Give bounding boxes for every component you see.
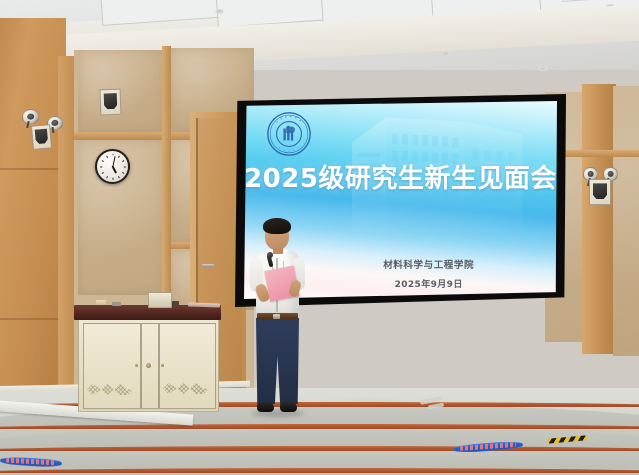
step-nosing: [0, 424, 639, 429]
clock-tick: [101, 172, 103, 174]
wall-mounted-device[interactable]: [589, 179, 611, 205]
clock-tick: [118, 155, 120, 157]
downlight-icon: [441, 51, 450, 56]
slide-subtitle: 材料科学与工程学院: [300, 257, 557, 271]
left-wood-wall: [0, 18, 66, 418]
slide-title: 2025级研究生新生见面会: [244, 158, 557, 195]
cabinet-knob[interactable]: [135, 364, 138, 367]
presenter-shoe-right: [280, 402, 297, 412]
lectern-cabinet[interactable]: [78, 318, 219, 412]
right-wood-column: [582, 84, 616, 354]
lectern-accessory[interactable]: [112, 302, 121, 306]
clock-tick: [124, 166, 126, 167]
acoustic-panel: [78, 50, 164, 132]
clock-tick: [112, 178, 113, 180]
right-acoustic-panel: [613, 86, 639, 356]
door-handle[interactable]: [202, 264, 214, 267]
wall-mounted-device[interactable]: [100, 89, 122, 116]
lectern-accessory[interactable]: [172, 301, 179, 306]
university-emblem-icon: [266, 111, 312, 157]
wall-mounted-device[interactable]: [31, 124, 52, 150]
cabinet-door-right[interactable]: [159, 323, 216, 409]
downlight-icon: [215, 9, 224, 14]
clock-tick: [106, 176, 108, 178]
downlight-icon: [538, 66, 547, 71]
lectern-accessory[interactable]: [96, 300, 106, 305]
presenter: [240, 214, 314, 420]
presenter-shoe-left: [257, 402, 274, 412]
clock-tick: [101, 160, 103, 162]
wall-clock: [95, 149, 130, 184]
microphone-head-icon: [267, 252, 273, 258]
clock-tick: [112, 154, 113, 156]
clock-tick: [100, 166, 102, 167]
presenter-trousers: [256, 318, 299, 404]
wall-trim: [162, 46, 171, 316]
clock-tick: [106, 155, 108, 157]
slide-date: 2025年9月9日: [300, 277, 557, 290]
lecture-hall-photo: 2025级研究生新生见面会 材料科学与工程学院 2025年9月9日: [0, 0, 639, 475]
presenter-hair: [263, 218, 291, 234]
clock-tick: [118, 176, 120, 178]
presenter-belt-buckle: [273, 314, 280, 319]
clock-tick: [122, 160, 124, 162]
lectern-equipment[interactable]: [148, 292, 172, 308]
cabinet-knob[interactable]: [161, 364, 164, 367]
cabinet-knob[interactable]: [146, 363, 151, 368]
step-nosing: [0, 468, 639, 473]
step-nosing: [0, 446, 639, 451]
clock-tick: [122, 172, 124, 174]
cabinet-door-left[interactable]: [83, 323, 141, 409]
